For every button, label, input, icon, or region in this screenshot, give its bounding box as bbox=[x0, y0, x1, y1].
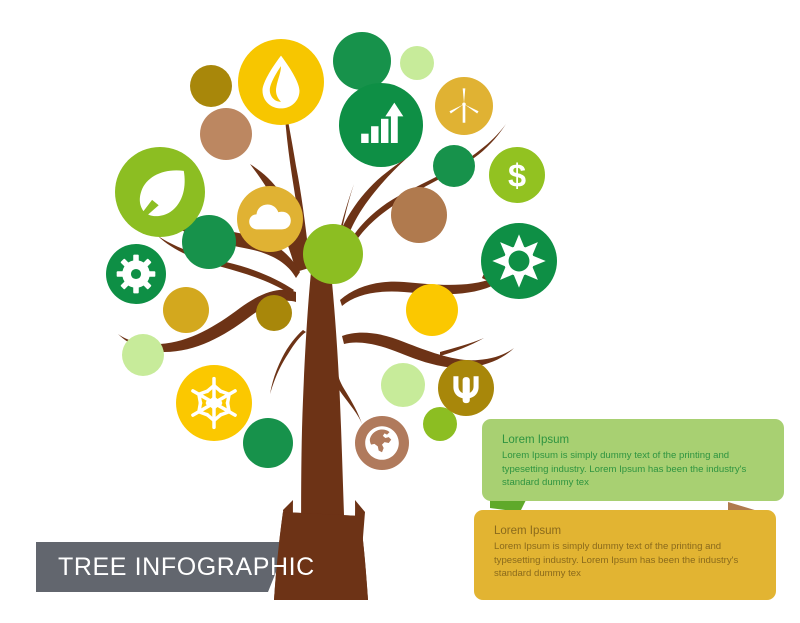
gear-icon bbox=[117, 255, 156, 294]
decor-circle-green-top bbox=[333, 32, 391, 90]
callout-green[interactable]: Lorem Ipsum Lorem Ipsum is simply dummy … bbox=[482, 419, 784, 501]
decor-circle-pale-right bbox=[381, 363, 425, 407]
node-water-drop[interactable] bbox=[238, 39, 324, 125]
sun-icon bbox=[492, 234, 545, 287]
node-sun[interactable] bbox=[481, 223, 557, 299]
node-globe[interactable] bbox=[355, 416, 409, 470]
callout-green-body: Lorem Ipsum is simply dummy text of the … bbox=[502, 449, 762, 489]
decor-circle-dkgold-ctr bbox=[256, 295, 292, 331]
callout-yellow[interactable]: Lorem Ipsum Lorem Ipsum is simply dummy … bbox=[474, 510, 776, 600]
decor-circle-pale-left bbox=[122, 334, 164, 376]
node-leaf[interactable] bbox=[115, 147, 205, 237]
decor-circle-yellow-mid bbox=[406, 284, 458, 336]
node-snowflake[interactable] bbox=[176, 365, 252, 441]
dollar-icon bbox=[508, 157, 526, 193]
node-gear[interactable] bbox=[106, 244, 166, 304]
decor-circle-green-sm bbox=[433, 145, 475, 187]
decor-circle-olive-mid bbox=[303, 224, 363, 284]
node-dollar[interactable] bbox=[489, 147, 545, 203]
callout-yellow-body: Lorem Ipsum is simply dummy text of the … bbox=[494, 540, 754, 580]
decor-circle-green-low bbox=[243, 418, 293, 468]
decor-circle-gold-left bbox=[163, 287, 209, 333]
decor-circle-tan-upper bbox=[200, 108, 252, 160]
globe-node-circle[interactable] bbox=[355, 416, 409, 470]
decor-circle-dark-gold bbox=[190, 65, 232, 107]
node-cactus[interactable] bbox=[438, 360, 494, 416]
node-cloud[interactable] bbox=[237, 186, 303, 252]
decor-circle-pale-green bbox=[400, 46, 434, 80]
callout-yellow-heading: Lorem Ipsum bbox=[494, 524, 754, 538]
decor-circle-tan-mid bbox=[391, 187, 447, 243]
callout-green-heading: Lorem Ipsum bbox=[502, 433, 762, 447]
infographic-canvas: $ bbox=[0, 0, 800, 623]
node-growth-chart[interactable] bbox=[339, 83, 423, 167]
page-title: TREE INFOGRAPHIC bbox=[58, 555, 315, 580]
node-wind-turbine[interactable] bbox=[435, 77, 493, 135]
